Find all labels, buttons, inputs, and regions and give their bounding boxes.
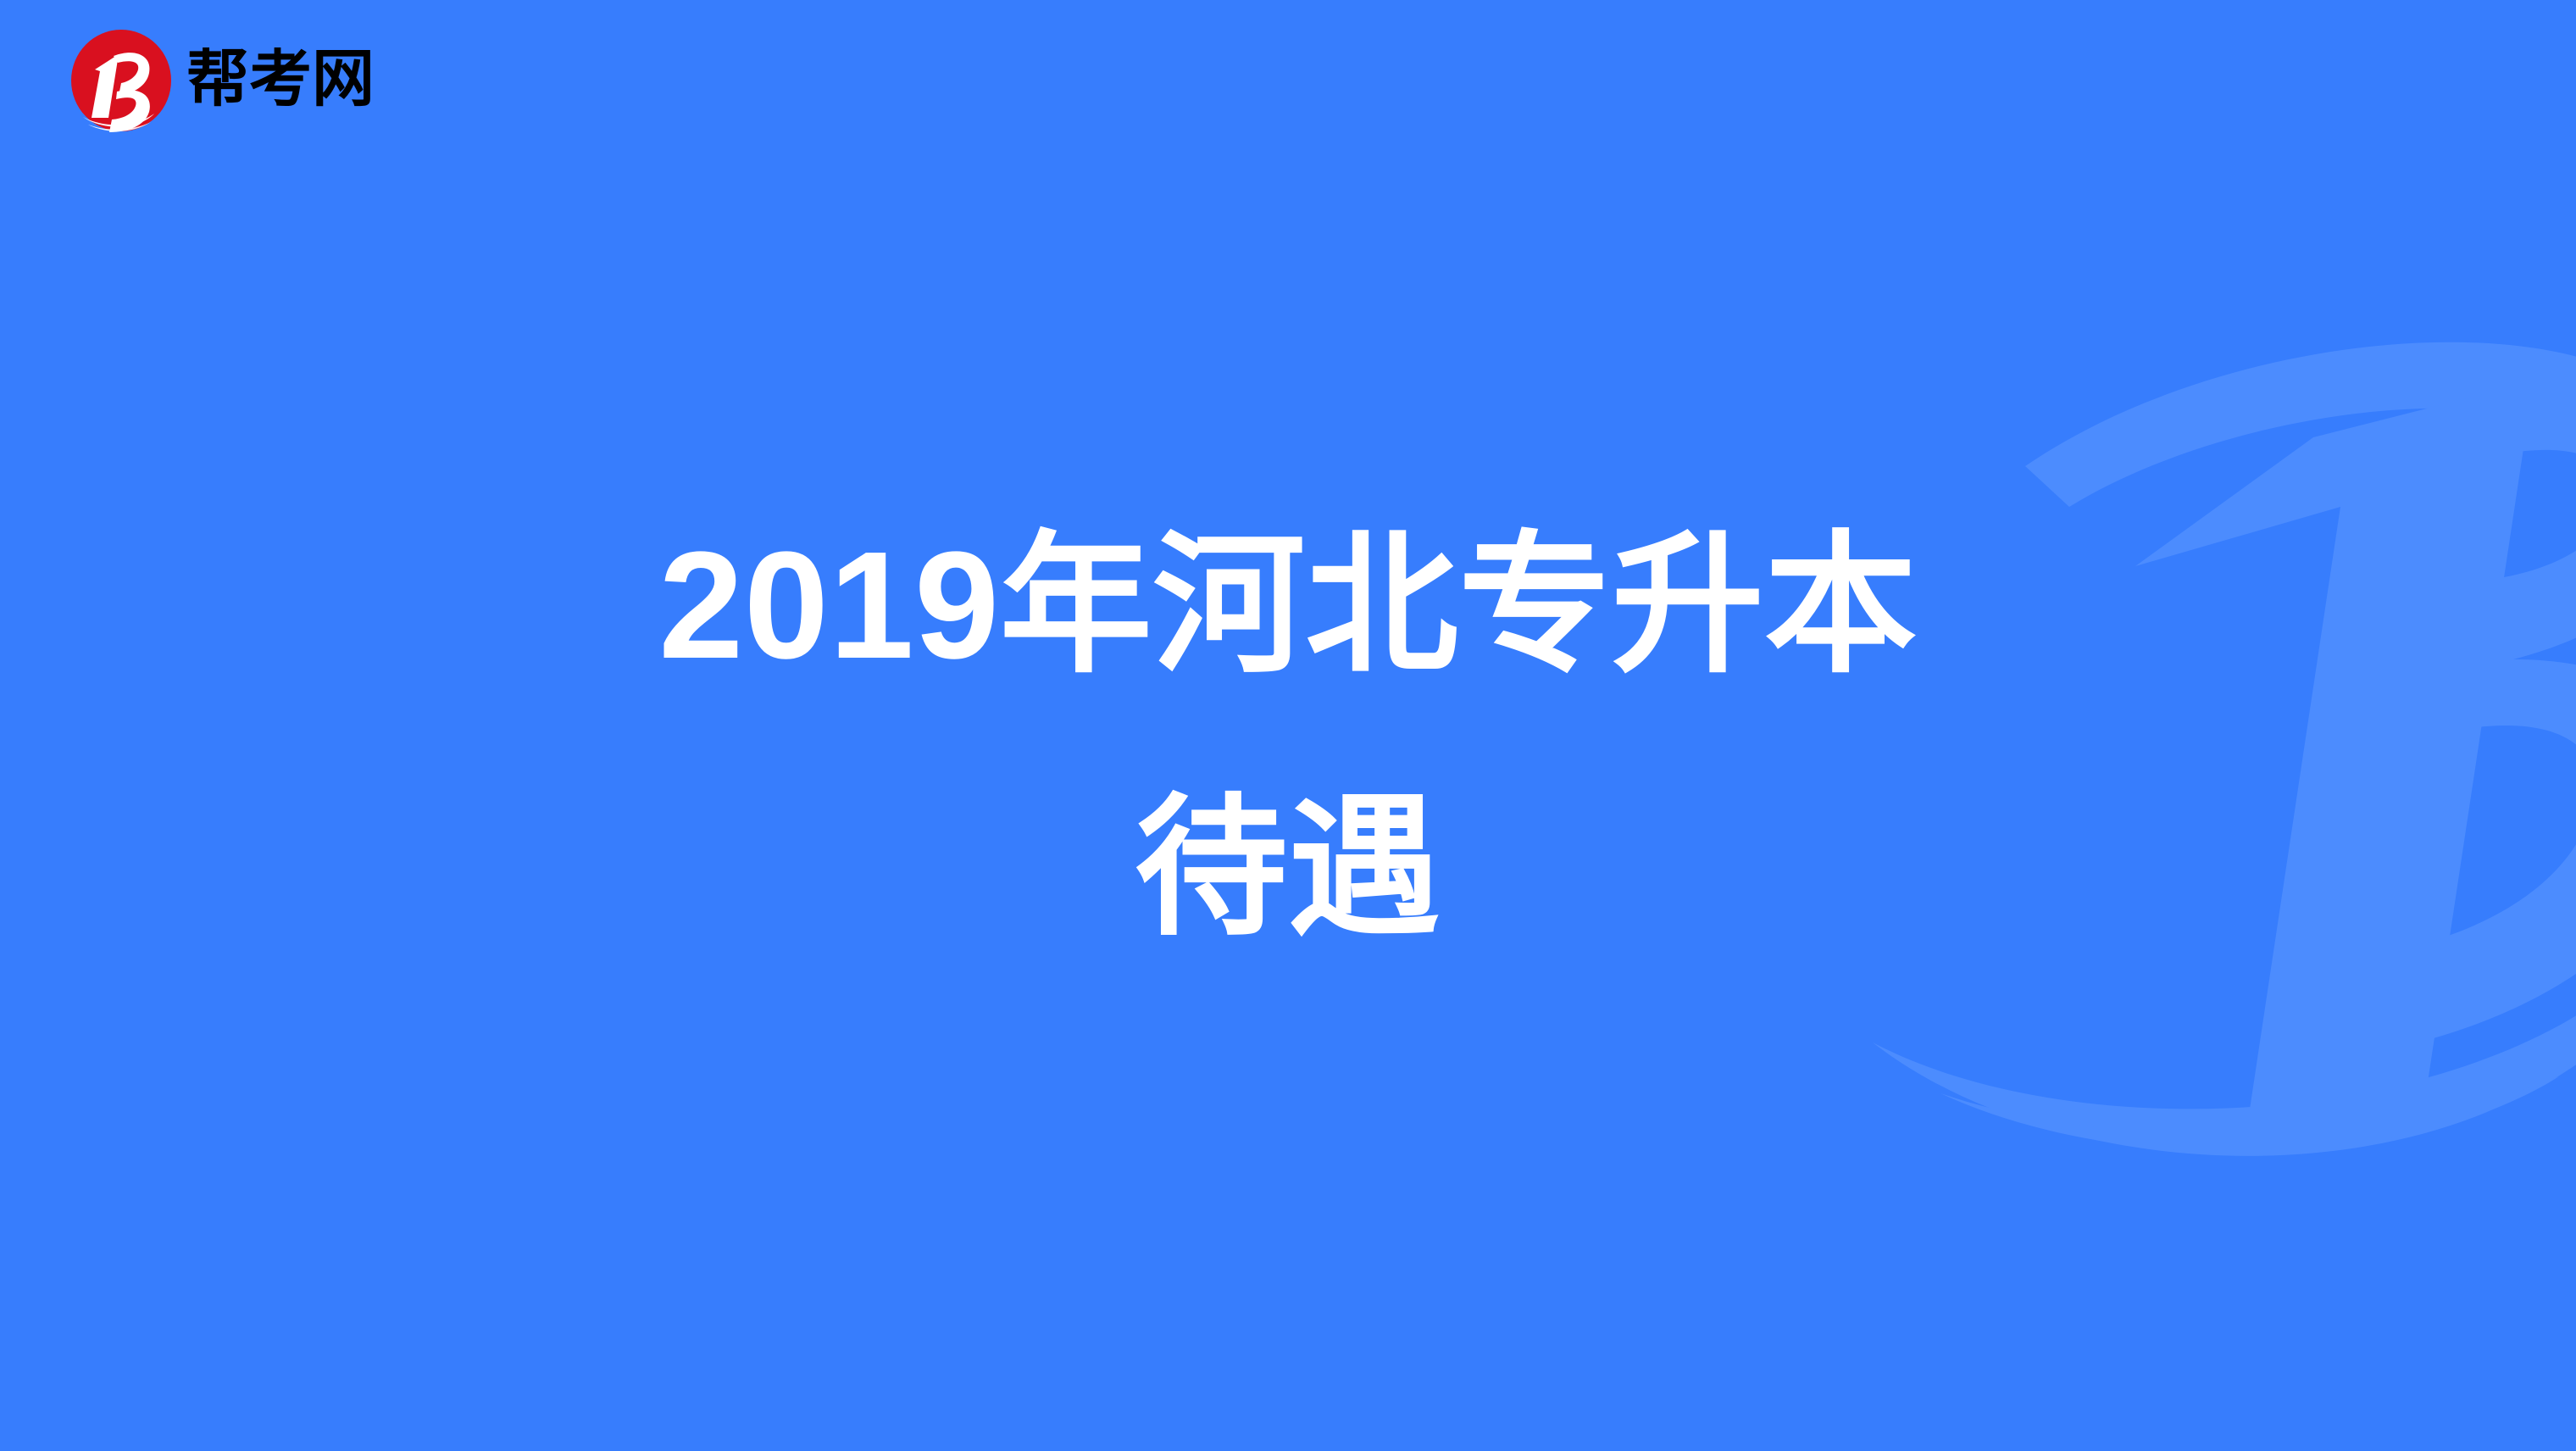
page-title-line-1: 2019年河北专升本	[0, 475, 2576, 737]
brand-name-text: 帮考网	[186, 47, 375, 114]
brand-logo[interactable]: 帮考网	[69, 29, 466, 132]
page-title-line-2: 待遇	[0, 737, 2576, 1000]
brand-name: 帮考网	[186, 47, 466, 114]
page-title: 2019年河北专升本 待遇	[0, 475, 2576, 999]
bangkao-logo-icon	[69, 29, 173, 132]
poster-canvas: 帮考网 2019年河北专升本 待遇	[0, 0, 2576, 1451]
